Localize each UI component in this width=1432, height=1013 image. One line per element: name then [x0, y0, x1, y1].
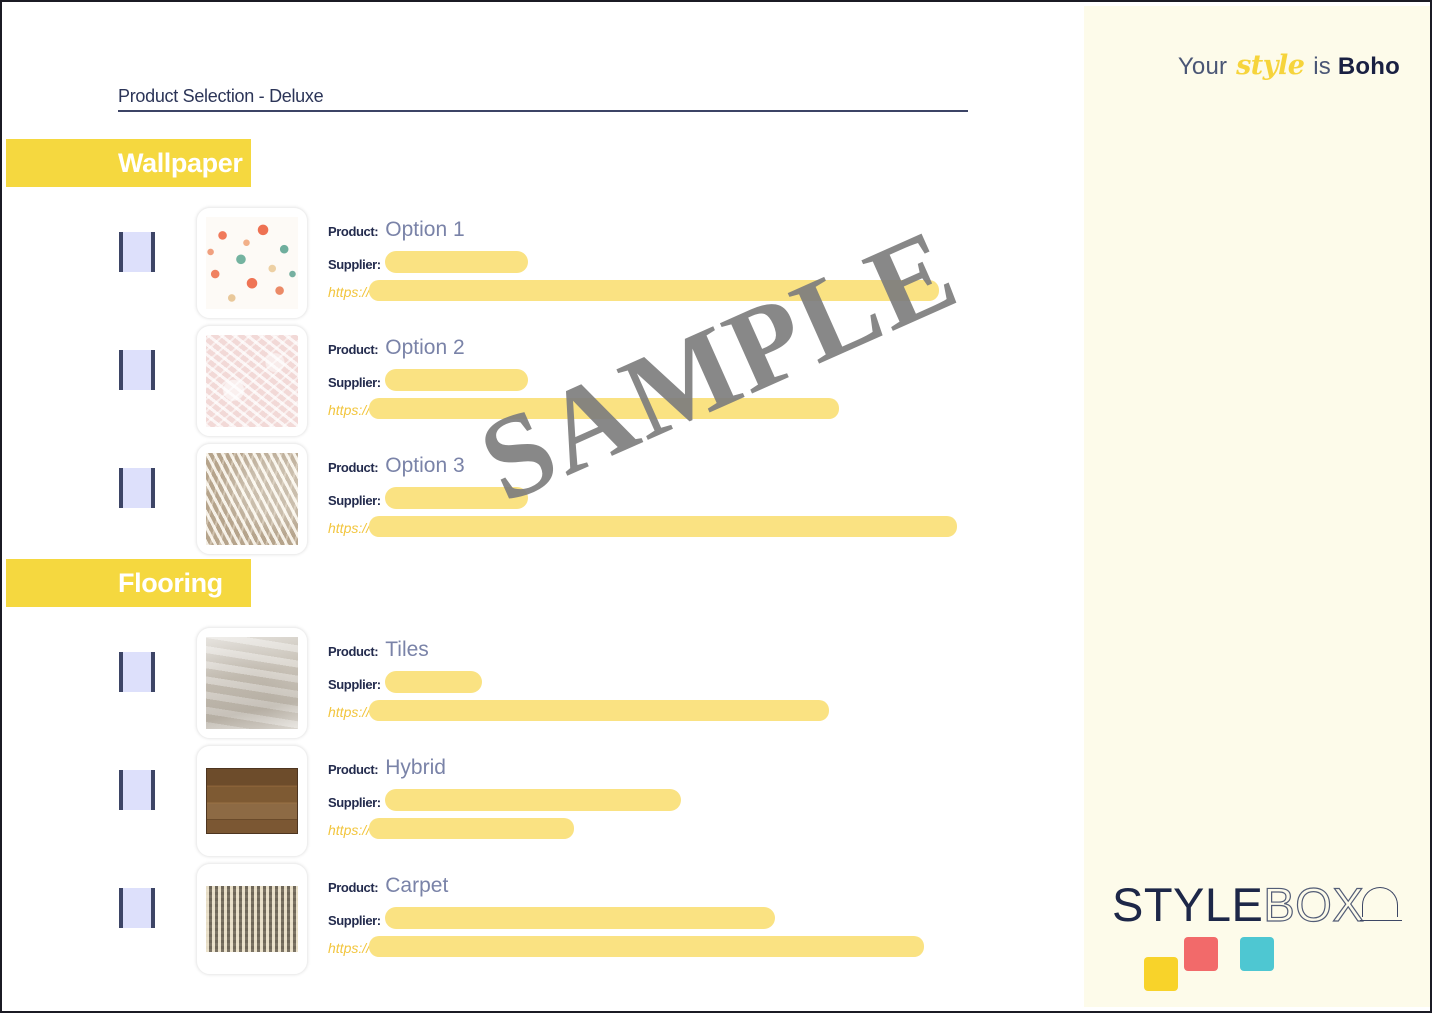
product-row[interactable]: Product:Option 2Supplier:https://: [6, 322, 1084, 442]
product-details: Product:Option 1Supplier:https://: [328, 218, 1028, 305]
supplier-line: Supplier:: [328, 903, 1028, 932]
product-line: Product:Tiles: [328, 638, 1028, 667]
url-prefix: https://: [328, 284, 370, 300]
supplier-line: Supplier:: [328, 667, 1028, 696]
url-line[interactable]: https://: [328, 696, 1028, 725]
url-line[interactable]: https://: [328, 814, 1028, 843]
product-thumbnail[interactable]: [196, 443, 308, 555]
logo-word-box: BOX: [1263, 878, 1364, 931]
url-redaction: [369, 516, 957, 537]
supplier-label: Supplier:: [328, 493, 381, 508]
url-redaction: [369, 700, 829, 721]
product-details: Product:HybridSupplier:https://: [328, 756, 1028, 843]
supplier-line: Supplier:: [328, 365, 1028, 394]
select-checkbox[interactable]: [119, 468, 155, 508]
page-title: Product Selection - Deluxe: [118, 86, 323, 107]
tagline: Your style is Boho: [1178, 50, 1400, 81]
product-row[interactable]: Product:TilesSupplier:https://: [6, 624, 1084, 744]
supplier-line: Supplier:: [328, 483, 1028, 512]
supplier-label: Supplier:: [328, 913, 381, 928]
select-checkbox[interactable]: [119, 232, 155, 272]
url-redaction: [369, 280, 939, 301]
logo-square-teal: [1240, 937, 1274, 971]
tagline-word-style: style: [1234, 50, 1306, 81]
product-thumbnail[interactable]: [196, 745, 308, 857]
branding-panel: Your style is Boho STYLEBOX: [1084, 6, 1430, 1007]
product-thumbnail[interactable]: [196, 207, 308, 319]
product-details: Product:Option 3Supplier:https://: [328, 454, 1028, 541]
product-line: Product:Option 1: [328, 218, 1028, 247]
document-page: Your style is Boho STYLEBOX Product Sele…: [0, 0, 1432, 1013]
product-name: Hybrid: [385, 756, 446, 780]
product-name: Option 1: [385, 218, 464, 242]
tagline-word-boho: Boho: [1338, 53, 1400, 80]
section-banner-wallpaper: Wallpaper: [6, 139, 251, 187]
product-row[interactable]: Product:Option 1Supplier:https://: [6, 204, 1084, 324]
select-checkbox[interactable]: [119, 652, 155, 692]
tagline-word-your: Your: [1178, 53, 1227, 80]
url-line[interactable]: https://: [328, 394, 1028, 423]
product-label: Product:: [328, 342, 378, 357]
product-label: Product:: [328, 224, 378, 239]
supplier-label: Supplier:: [328, 375, 381, 390]
supplier-redaction: [385, 907, 775, 929]
product-thumbnail[interactable]: [196, 627, 308, 739]
url-redaction: [369, 936, 924, 957]
select-checkbox[interactable]: [119, 770, 155, 810]
supplier-label: Supplier:: [328, 795, 381, 810]
stylebox-logo-text: STYLEBOX: [1112, 879, 1364, 931]
product-label: Product:: [328, 762, 378, 777]
section-title: Flooring: [6, 568, 223, 599]
supplier-redaction: [385, 789, 681, 811]
url-prefix: https://: [328, 402, 370, 418]
supplier-redaction: [385, 671, 482, 693]
supplier-label: Supplier:: [328, 677, 381, 692]
select-checkbox[interactable]: [119, 350, 155, 390]
product-label: Product:: [328, 880, 378, 895]
swatch-image: [206, 886, 298, 952]
product-details: Product:CarpetSupplier:https://: [328, 874, 1028, 961]
url-line[interactable]: https://: [328, 512, 1028, 541]
swatch-image: [206, 453, 298, 545]
url-prefix: https://: [328, 704, 370, 720]
logo-square-yellow: [1144, 957, 1178, 991]
supplier-redaction: [385, 487, 528, 509]
product-line: Product:Hybrid: [328, 756, 1028, 785]
product-line: Product:Option 2: [328, 336, 1028, 365]
url-line[interactable]: https://: [328, 932, 1028, 961]
supplier-label: Supplier:: [328, 257, 381, 272]
tagline-word-is: is: [1313, 53, 1331, 80]
product-row[interactable]: Product:HybridSupplier:https://: [6, 742, 1084, 862]
product-name: Option 3: [385, 454, 464, 478]
url-line[interactable]: https://: [328, 276, 1028, 305]
section-banner-flooring: Flooring: [6, 559, 251, 607]
swatch-image: [206, 637, 298, 729]
product-thumbnail[interactable]: [196, 325, 308, 437]
url-redaction: [369, 818, 574, 839]
page-canvas: Your style is Boho STYLEBOX Product Sele…: [6, 6, 1430, 1007]
product-row[interactable]: Product:CarpetSupplier:https://: [6, 860, 1084, 980]
product-row[interactable]: Product:Option 3Supplier:https://: [6, 440, 1084, 560]
url-prefix: https://: [328, 520, 370, 536]
url-prefix: https://: [328, 940, 370, 956]
swatch-image: [206, 217, 298, 309]
product-label: Product:: [328, 644, 378, 659]
logo-word-style: STYLE: [1112, 878, 1263, 931]
title-divider: [118, 110, 968, 112]
product-name: Tiles: [385, 638, 429, 662]
product-details: Product:TilesSupplier:https://: [328, 638, 1028, 725]
section-title: Wallpaper: [6, 148, 242, 179]
product-line: Product:Carpet: [328, 874, 1028, 903]
url-prefix: https://: [328, 822, 370, 838]
swatch-image: [206, 768, 298, 834]
supplier-line: Supplier:: [328, 247, 1028, 276]
swatch-image: [206, 335, 298, 427]
logo-square-red: [1184, 937, 1218, 971]
url-redaction: [369, 398, 839, 419]
product-name: Carpet: [385, 874, 448, 898]
supplier-redaction: [385, 369, 528, 391]
product-line: Product:Option 3: [328, 454, 1028, 483]
supplier-redaction: [385, 251, 528, 273]
product-thumbnail[interactable]: [196, 863, 308, 975]
supplier-line: Supplier:: [328, 785, 1028, 814]
select-checkbox[interactable]: [119, 888, 155, 928]
stylebox-logo: STYLEBOX: [1112, 879, 1412, 989]
arch-baseline-icon: [1360, 920, 1402, 921]
product-details: Product:Option 2Supplier:https://: [328, 336, 1028, 423]
product-name: Option 2: [385, 336, 464, 360]
product-label: Product:: [328, 460, 378, 475]
arch-icon: [1362, 887, 1398, 917]
